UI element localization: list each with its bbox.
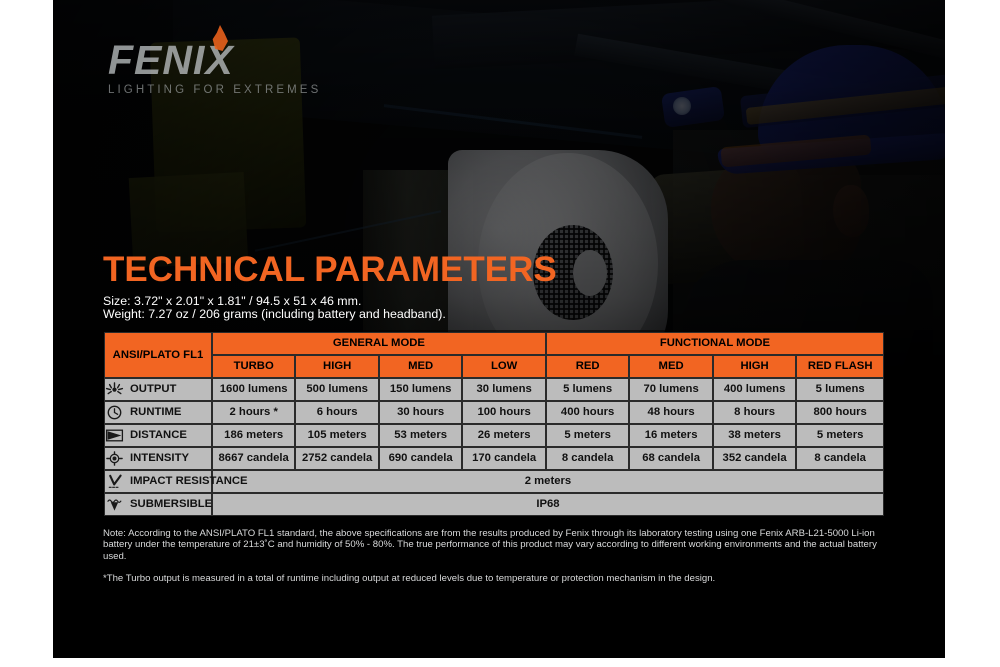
cell-distance-red-flash: 5 meters [797,425,883,446]
footnote-standard: Note: According to the ANSI/PLATO FL1 st… [103,528,893,562]
mode-header-row: TURBO HIGH MED LOW RED MED HIGH RED FLAS… [105,356,883,377]
mode-header-turbo: TURBO [213,356,294,377]
row-label-text: IMPACT RESISTANCE [130,475,248,487]
intensity-crosshair-icon [105,451,124,466]
impact-drop-icon [105,474,124,489]
beam-cone-icon [105,428,124,443]
row-label-runtime: RUNTIME [105,402,211,423]
mode-header-low: LOW [463,356,544,377]
table-head: ANSI/PLATO FL1 GENERAL MODE FUNCTIONAL M… [105,333,883,377]
content-panel: TECHNICAL PARAMETERS Size: 3.72" x 2.01"… [103,252,885,585]
row-label-text: SUBMERSIBLE [130,498,212,510]
cell-output-red-med: 70 lumens [630,379,711,400]
mode-header-high: HIGH [296,356,377,377]
cell-runtime-high: 6 hours [296,402,377,423]
table-row: INTENSITY 8667 candela 2752 candela 690 … [105,448,883,469]
cell-distance-med: 53 meters [380,425,461,446]
cell-runtime-low: 100 hours [463,402,544,423]
table-row: IMPACT RESISTANCE 2 meters [105,471,883,492]
cell-output-red: 5 lumens [547,379,628,400]
row-label-output: OUTPUT [105,379,211,400]
row-label-submersible: SUBMERSIBLE [105,494,211,515]
table-row: RUNTIME 2 hours * 6 hours 30 hours 100 h… [105,402,883,423]
cell-runtime-turbo: 2 hours * [213,402,294,423]
logo-wordmark: FENIX [108,40,348,81]
cell-intensity-high: 2752 candela [296,448,377,469]
cell-intensity-red-flash: 8 candela [797,448,883,469]
mode-header-red-med: MED [630,356,711,377]
mode-header-red-flash: RED FLASH [797,356,883,377]
row-label-text: DISTANCE [130,429,187,441]
page-title: TECHNICAL PARAMETERS [103,252,885,289]
row-label-distance: DISTANCE [105,425,211,446]
light-burst-icon [105,382,124,397]
cell-output-turbo: 1600 lumens [213,379,294,400]
cell-runtime-red-med: 48 hours [630,402,711,423]
size-line: Size: 3.72" x 2.01" x 1.81" / 94.5 x 51 … [103,295,885,309]
page-root: FENIX LIGHTING FOR EXTREMES TECHNICAL PA… [0,0,1000,667]
footnotes: Note: According to the ANSI/PLATO FL1 st… [103,528,893,585]
cell-intensity-red-high: 352 candela [714,448,795,469]
footnote-turbo: *The Turbo output is measured in a total… [103,573,893,584]
mode-header-red-high: HIGH [714,356,795,377]
table-row: OUTPUT 1600 lumens 500 lumens 150 lumens… [105,379,883,400]
cell-intensity-red: 8 candela [547,448,628,469]
row-label-text: OUTPUT [130,383,176,395]
row-label-text: RUNTIME [130,406,181,418]
table-body: OUTPUT 1600 lumens 500 lumens 150 lumens… [105,379,883,515]
cell-output-med: 150 lumens [380,379,461,400]
group-header-general: GENERAL MODE [213,333,545,354]
cell-distance-turbo: 186 meters [213,425,294,446]
logo-tagline: LIGHTING FOR EXTREMES [108,84,348,96]
water-droplet-icon [105,497,124,512]
clock-icon [105,405,124,420]
fenix-logo: FENIX LIGHTING FOR EXTREMES [108,40,348,96]
cell-intensity-turbo: 8667 candela [213,448,294,469]
cell-output-red-high: 400 lumens [714,379,795,400]
cell-distance-red-high: 38 meters [714,425,795,446]
cell-intensity-red-med: 68 candela [630,448,711,469]
cell-intensity-med: 690 candela [380,448,461,469]
cell-runtime-red-high: 8 hours [714,402,795,423]
cell-distance-red: 5 meters [547,425,628,446]
cell-runtime-med: 30 hours [380,402,461,423]
mode-header-red: RED [547,356,628,377]
standard-label: ANSI/PLATO FL1 [105,333,211,377]
cell-runtime-red: 400 hours [547,402,628,423]
cell-runtime-red-flash: 800 hours [797,402,883,423]
cell-intensity-low: 170 candela [463,448,544,469]
cell-distance-red-med: 16 meters [630,425,711,446]
row-label-intensity: INTENSITY [105,448,211,469]
row-label-text: INTENSITY [130,452,189,464]
mode-header-med: MED [380,356,461,377]
cell-distance-high: 105 meters [296,425,377,446]
weight-line: Weight: 7.27 oz / 206 grams (including b… [103,308,885,322]
technical-parameters-table: ANSI/PLATO FL1 GENERAL MODE FUNCTIONAL M… [103,331,885,517]
cell-distance-low: 26 meters [463,425,544,446]
row-label-impact-resistance: IMPACT RESISTANCE [105,471,211,492]
cell-output-high: 500 lumens [296,379,377,400]
group-header-functional: FUNCTIONAL MODE [547,333,883,354]
group-header-row: ANSI/PLATO FL1 GENERAL MODE FUNCTIONAL M… [105,333,883,354]
cell-submersible-value: IP68 [213,494,883,515]
cell-output-red-flash: 5 lumens [797,379,883,400]
cell-impact-resistance-value: 2 meters [213,471,883,492]
cell-output-low: 30 lumens [463,379,544,400]
table-row: SUBMERSIBLE IP68 [105,494,883,515]
table-row: DISTANCE 186 meters 105 meters 53 meters… [105,425,883,446]
